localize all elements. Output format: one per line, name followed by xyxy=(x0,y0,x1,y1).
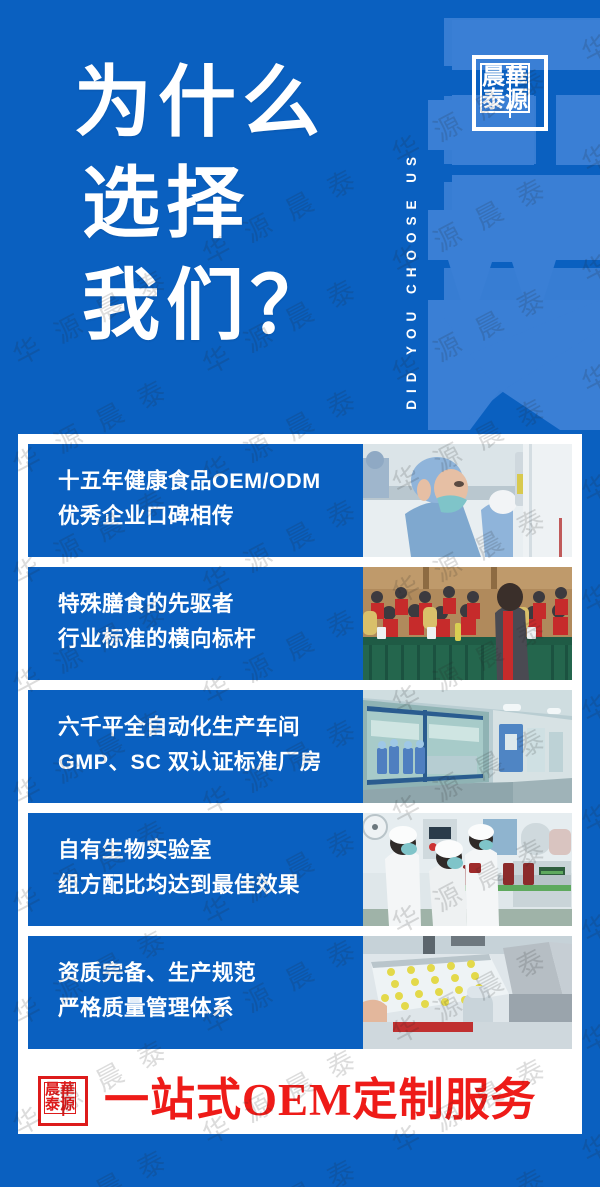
brand-seal-inner: 晨 華 泰 源 xyxy=(480,63,530,113)
feature-line-1: 自有生物实验室 xyxy=(58,833,363,868)
headline-line-2: 选择 xyxy=(82,153,334,254)
feature-text-block: 特殊膳食的先驱者 行业标准的横向标杆 xyxy=(28,567,363,680)
feature-text-block: 六千平全自动化生产车间 GMP、SC 双认证标准厂房 xyxy=(28,690,363,803)
feature-line-2: 组方配比均达到最佳效果 xyxy=(58,868,363,903)
feature-text-block: 十五年健康食品OEM/ODM 优秀企业口碑相传 xyxy=(28,444,363,557)
feature-line-2: 优秀企业口碑相传 xyxy=(58,499,363,534)
seal-divider xyxy=(509,68,511,118)
hero-section: 为什么 选择 我们？ DID YOU CHOOSE US 晨 華 泰 源 xyxy=(0,0,600,430)
blister-packaging-photo xyxy=(363,936,572,1049)
lab-technician-photo xyxy=(363,444,572,557)
feature-line-2: 行业标准的横向标杆 xyxy=(58,622,363,657)
feature-text-block: 自有生物实验室 组方配比均达到最佳效果 xyxy=(28,813,363,926)
banner-seal-char-tai: 泰 xyxy=(45,1098,60,1113)
headline-line-3: 我们？ xyxy=(82,255,334,356)
feature-row: 十五年健康食品OEM/ODM 优秀企业口碑相传 xyxy=(28,444,572,557)
feature-line-1: 十五年健康食品OEM/ODM xyxy=(58,464,363,499)
production-line-photo xyxy=(363,813,572,926)
banner-slogan: 一站式OEM定制服务 xyxy=(104,1078,537,1123)
seal-char-tai: 泰 xyxy=(482,88,505,111)
feature-row: 特殊膳食的先驱者 行业标准的横向标杆 xyxy=(28,567,572,680)
feature-text-block: 资质完备、生产规范 严格质量管理体系 xyxy=(28,936,363,1049)
bottom-banner: 晨 華 泰 源 一站式OEM定制服务 xyxy=(18,1067,582,1134)
feature-row: 自有生物实验室 组方配比均达到最佳效果 xyxy=(28,813,572,926)
feature-cards-panel: 十五年健康食品OEM/ODM 优秀企业口碑相传 xyxy=(18,434,582,1067)
banner-seal-inner: 晨 華 泰 源 xyxy=(44,1082,76,1114)
conference-hall-photo xyxy=(363,567,572,680)
banner-seal-logo: 晨 華 泰 源 xyxy=(38,1076,88,1126)
brand-seal-logo: 晨 華 泰 源 xyxy=(472,55,548,131)
feature-line-2: 严格质量管理体系 xyxy=(58,991,363,1026)
vertical-tagline: DID YOU CHOOSE US xyxy=(398,18,424,410)
vertical-tagline-text: DID YOU CHOOSE US xyxy=(404,150,419,410)
feature-line-1: 特殊膳食的先驱者 xyxy=(58,587,363,622)
banner-seal-divider xyxy=(62,1086,64,1116)
page-headline: 为什么 选择 我们？ xyxy=(74,52,334,356)
banner-seal-char-chen: 晨 xyxy=(45,1083,60,1098)
headline-line-1: 为什么 xyxy=(74,52,334,153)
feature-row: 六千平全自动化生产车间 GMP、SC 双认证标准厂房 xyxy=(28,690,572,803)
feature-row: 资质完备、生产规范 严格质量管理体系 xyxy=(28,936,572,1049)
feature-line-1: 资质完备、生产规范 xyxy=(58,956,363,991)
cleanroom-corridor-photo xyxy=(363,690,572,803)
feature-line-2: GMP、SC 双认证标准厂房 xyxy=(58,745,363,780)
feature-line-1: 六千平全自动化生产车间 xyxy=(58,710,363,745)
seal-char-chen: 晨 xyxy=(482,65,505,88)
